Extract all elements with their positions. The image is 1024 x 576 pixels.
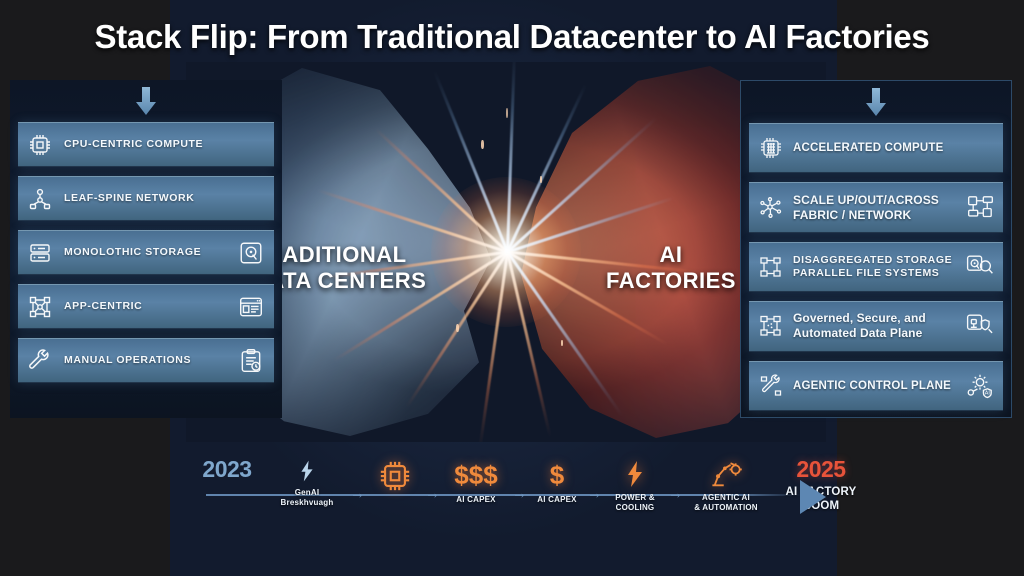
row-label: LEAF-SPINE NETWORK <box>64 192 266 205</box>
down-arrow-icon <box>863 87 889 117</box>
row-label: CPU-CENTRIC COMPUTE <box>64 138 266 151</box>
step-caption: AI CAPEX <box>537 495 576 505</box>
server-rack-icon <box>26 239 54 267</box>
step-caption: POWER & COOLING <box>615 493 655 512</box>
timeline-step-agentic-ai[interactable]: AGENTIC AI & AUTOMATION <box>683 458 769 512</box>
clipboard-clock-icon <box>236 346 266 376</box>
row-label: ACCELERATED COMPUTE <box>793 141 995 155</box>
network-switch-icon <box>965 193 995 223</box>
timeline-step-genai[interactable]: GenAI Breskhvuagh <box>264 458 350 507</box>
row-manual-operations[interactable]: MANUAL OPERATIONS <box>18 338 274 383</box>
ai-label-line2: FACTORIES <box>596 268 746 294</box>
agent-wrench-icon <box>757 372 785 400</box>
row-monolothic-storage[interactable]: MONOLOTHIC STORAGE <box>18 230 274 275</box>
start-year-label: 2023 <box>202 458 251 481</box>
ai-label-line1: AI <box>596 242 746 268</box>
row-disaggregated-storage[interactable]: DISAGGREGATED STORAGE PARALLEL FILE SYST… <box>749 242 1003 292</box>
money-icon: $ <box>550 462 564 488</box>
slide-canvas: Stack Flip: From Traditional Datacenter … <box>0 0 1024 576</box>
app-topology-icon <box>26 293 54 321</box>
timeline-step-capex-triple[interactable]: $$$ AI CAPEX <box>440 458 512 505</box>
network-nodes-icon <box>26 185 54 213</box>
fabric-mesh-icon <box>757 194 785 222</box>
secure-search-icon <box>965 311 995 341</box>
page-title: Stack Flip: From Traditional Datacenter … <box>0 18 1024 56</box>
storage-search-icon <box>965 252 995 282</box>
row-label: MONOLOTHIC STORAGE <box>64 246 226 259</box>
down-arrow-icon <box>133 86 159 116</box>
ai-factory-stack-panel: ACCELERATED COMPUTE SCALE UP/OUT/ACROSS … <box>740 80 1012 418</box>
row-label: SCALE UP/OUT/ACROSS FABRIC / NETWORK <box>793 193 957 223</box>
row-agentic-control-plane[interactable]: AGENTIC CONTROL PLANE AI <box>749 361 1003 411</box>
power-bolt-icon <box>625 458 645 490</box>
step-caption: AGENTIC AI & AUTOMATION <box>694 493 758 512</box>
disaggregated-icon <box>757 253 785 281</box>
timeline-step-chip[interactable] <box>365 458 425 494</box>
browser-window-icon <box>236 292 266 322</box>
step-caption: GenAI Breskhvuagh <box>281 488 334 507</box>
data-plane-icon <box>757 312 785 340</box>
row-label: APP-CENTRIC <box>64 300 226 313</box>
gpu-chip-icon <box>757 134 785 162</box>
end-year-label: 2025 <box>796 458 845 481</box>
timeline-steps: 2023 GenAI Breskhvuagh → <box>190 458 820 546</box>
row-cpu-centric-compute[interactable]: CPU-CENTRIC COMPUTE <box>18 122 274 167</box>
ai-factory-rows: ACCELERATED COMPUTE SCALE UP/OUT/ACROSS … <box>749 123 1003 411</box>
timeline-start-year: 2023 <box>190 458 264 481</box>
money-icon: $$$ <box>454 462 497 488</box>
timeline-end-arrow-icon <box>800 480 826 514</box>
row-label: DISAGGREGATED STORAGE PARALLEL FILE SYST… <box>793 254 957 280</box>
cpu-chip-icon <box>378 458 412 494</box>
timeline: 2023 GenAI Breskhvuagh → <box>190 458 820 546</box>
hard-disk-icon <box>236 238 266 268</box>
traditional-stack-panel: CPU-CENTRIC COMPUTE LEAF-SPINE NETWORK <box>10 80 282 418</box>
row-label: MANUAL OPERATIONS <box>64 354 226 367</box>
row-label: Governed, Secure, and Automated Data Pla… <box>793 311 957 341</box>
lightning-bolt-icon <box>299 458 315 484</box>
ai-gear-icon: AI <box>965 371 995 401</box>
connector-arrow: → <box>350 486 365 501</box>
row-accelerated-compute[interactable]: ACCELERATED COMPUTE <box>749 123 1003 173</box>
collision-artwork: TRADITIONAL DATA CENTERS AI FACTORIES <box>186 62 826 442</box>
row-governed-data-plane[interactable]: Governed, Secure, and Automated Data Pla… <box>749 301 1003 351</box>
timeline-step-power-cooling[interactable]: POWER & COOLING <box>602 458 668 512</box>
connector-arrow: → <box>512 486 527 501</box>
connector-arrow: → <box>668 486 683 501</box>
timeline-step-capex-single[interactable]: $ AI CAPEX <box>527 458 587 505</box>
connector-arrow: → <box>425 486 440 501</box>
ai-factories-label: AI FACTORIES <box>596 242 746 293</box>
connector-arrow: → <box>587 486 602 501</box>
row-label: AGENTIC CONTROL PLANE <box>793 379 957 393</box>
wrench-icon <box>26 347 54 375</box>
row-scale-fabric-network[interactable]: SCALE UP/OUT/ACROSS FABRIC / NETWORK <box>749 182 1003 232</box>
row-app-centric[interactable]: APP-CENTRIC <box>18 284 274 329</box>
traditional-rows: CPU-CENTRIC COMPUTE LEAF-SPINE NETWORK <box>18 122 274 412</box>
svg-text:AI: AI <box>985 390 990 396</box>
cpu-chip-icon <box>26 131 54 159</box>
step-caption: AI CAPEX <box>456 495 495 505</box>
robot-arm-gear-icon <box>709 458 743 490</box>
row-leaf-spine-network[interactable]: LEAF-SPINE NETWORK <box>18 176 274 221</box>
